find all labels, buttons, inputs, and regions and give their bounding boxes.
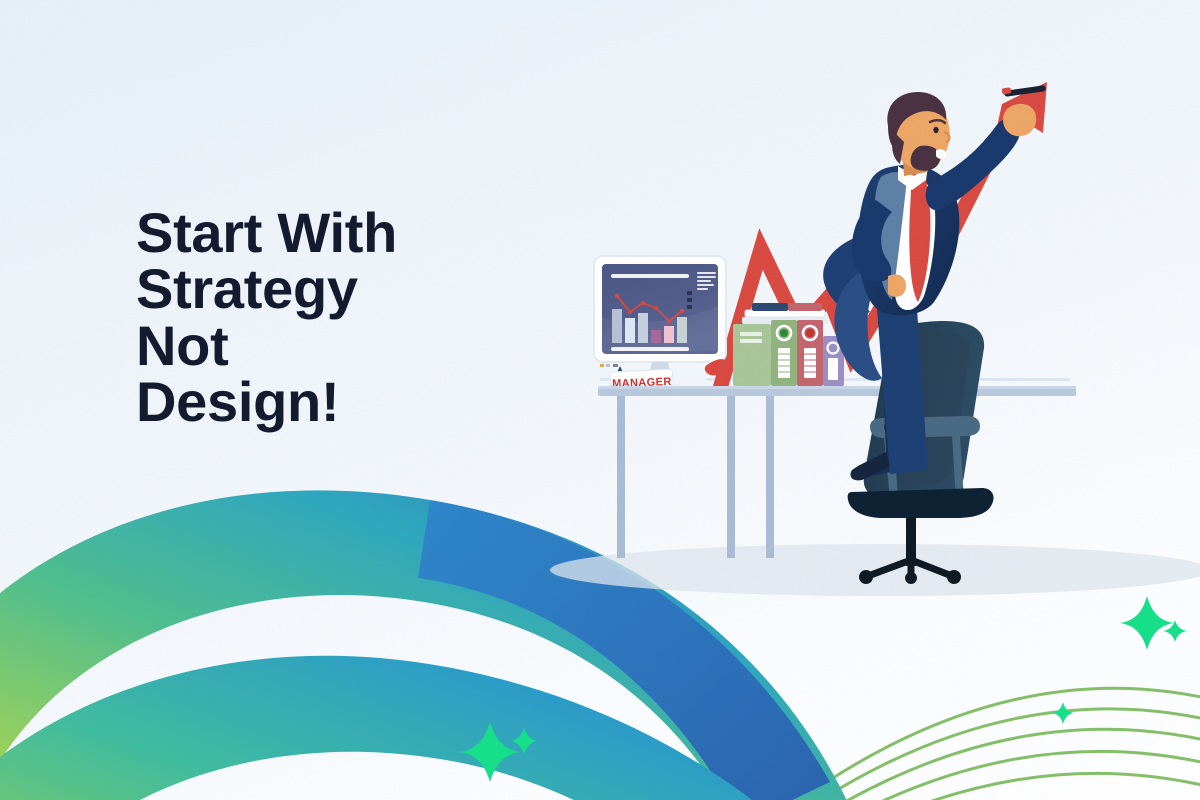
sparkle-large-right [1120,596,1174,650]
poster-canvas: Start With Strategy Not Design! [0,0,1200,800]
headline-line-3: Not [136,319,576,373]
headline-line-2: Strategy [136,262,576,316]
headline-line-1: Start With [136,206,576,260]
green-arc-lines [800,688,1200,800]
headline-line-4: Design! [136,375,576,429]
sparkle-tiny-right [1052,702,1074,724]
headline-block: Start With Strategy Not Design! [136,206,576,429]
